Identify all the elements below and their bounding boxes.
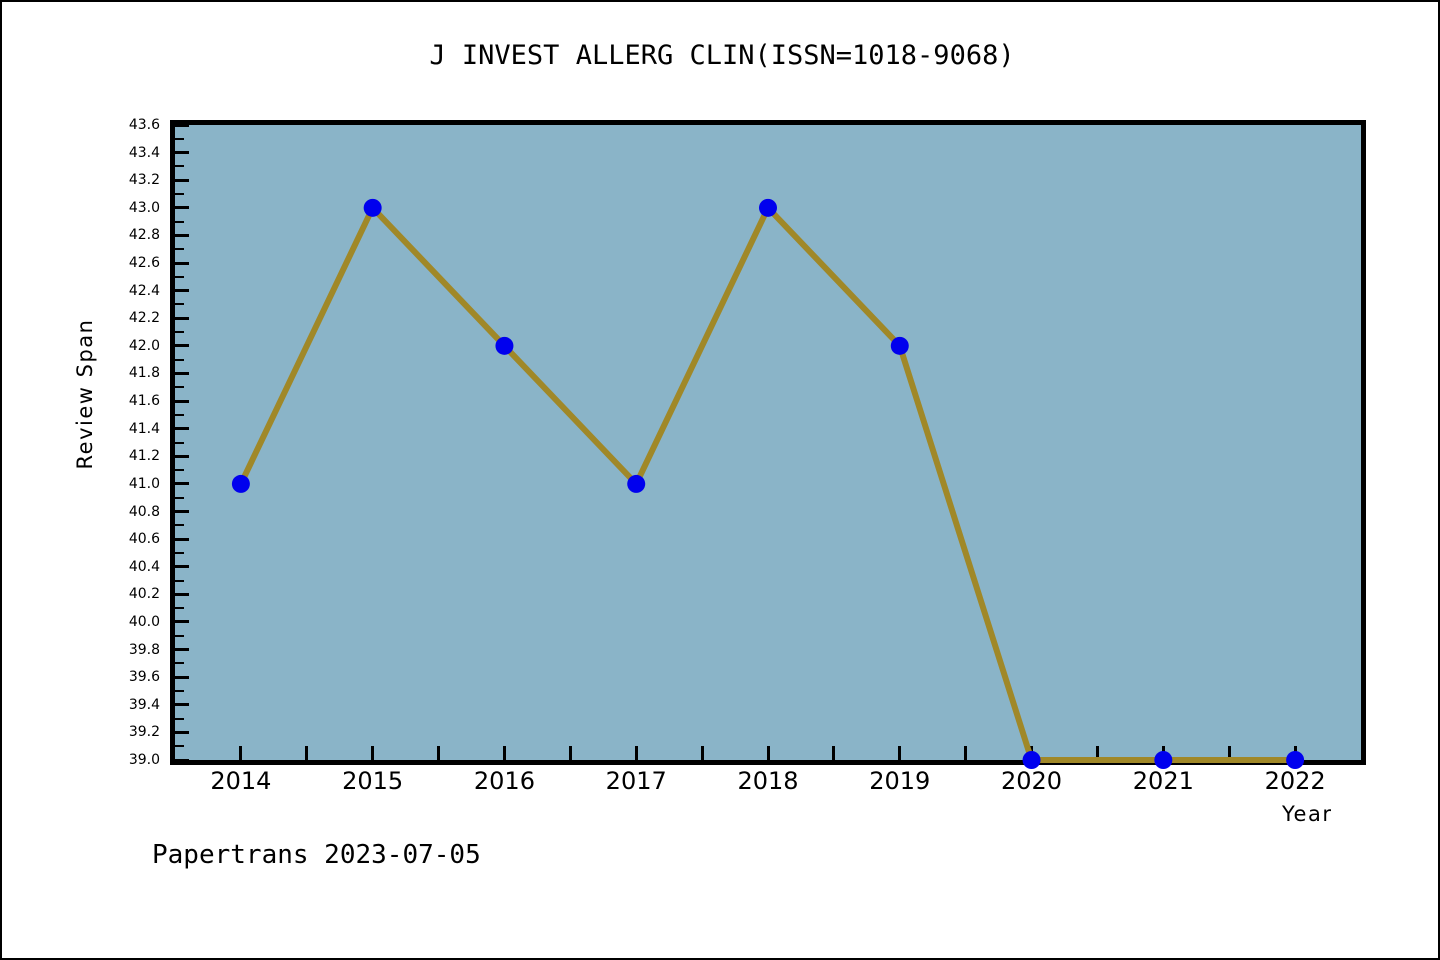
- y-axis-tick-label: 40.2: [129, 587, 160, 601]
- y-axis-tick-label: 43.6: [129, 118, 160, 132]
- y-axis-tick-label: 39.6: [129, 670, 160, 684]
- y-axis-tick-label: 42.0: [129, 339, 160, 353]
- x-axis-tick-label: 2018: [708, 767, 828, 795]
- data-point-marker[interactable]: [759, 199, 777, 217]
- y-axis-tick-label: 42.6: [129, 256, 160, 270]
- y-axis-tick-label: 40.4: [129, 560, 160, 574]
- y-axis-tick-label: 41.4: [129, 422, 160, 436]
- x-axis-tick-label: 2022: [1235, 767, 1355, 795]
- y-axis-tick-label: 40.6: [129, 532, 160, 546]
- y-axis-tick-label: 39.2: [129, 725, 160, 739]
- y-axis-tick-label: 39.8: [129, 643, 160, 657]
- x-axis-tick-label: 2020: [972, 767, 1092, 795]
- chart-page: J INVEST ALLERG CLIN(ISSN=1018-9068) Rev…: [0, 0, 1440, 960]
- y-axis-tick-label: 43.0: [129, 201, 160, 215]
- y-axis-tick-label: 43.4: [129, 146, 160, 160]
- y-axis-tick-label: 41.8: [129, 366, 160, 380]
- x-axis-tick-label: 2021: [1103, 767, 1223, 795]
- y-axis-tick-label: 39.0: [129, 753, 160, 767]
- x-axis-tick-label: 2014: [181, 767, 301, 795]
- data-point-marker[interactable]: [891, 337, 909, 355]
- x-axis-tick-label: 2017: [576, 767, 696, 795]
- x-axis-tick-label: 2019: [840, 767, 960, 795]
- data-point-marker[interactable]: [1154, 751, 1172, 769]
- data-point-marker[interactable]: [232, 475, 250, 493]
- line-series: [175, 125, 1361, 760]
- y-axis-tick-label: 41.0: [129, 477, 160, 491]
- y-axis-tick-label: 41.2: [129, 449, 160, 463]
- y-axis-tick-label: 43.2: [129, 173, 160, 187]
- plot-area: [170, 120, 1366, 765]
- data-point-marker[interactable]: [1023, 751, 1041, 769]
- y-axis-tick-label: 42.2: [129, 311, 160, 325]
- x-axis-label: Year: [1282, 802, 1332, 826]
- page-title: J INVEST ALLERG CLIN(ISSN=1018-9068): [2, 40, 1440, 71]
- x-axis-tick-label: 2015: [313, 767, 433, 795]
- data-point-marker[interactable]: [1286, 751, 1304, 769]
- footer-note: Papertrans 2023-07-05: [152, 840, 481, 870]
- y-axis-tick-label: 42.8: [129, 228, 160, 242]
- y-axis-tick-label: 39.4: [129, 698, 160, 712]
- y-axis-tick-label: 42.4: [129, 284, 160, 298]
- y-axis-tick-label: 41.6: [129, 394, 160, 408]
- series-line: [241, 208, 1295, 760]
- y-axis-tick-label: 40.0: [129, 615, 160, 629]
- data-point-marker[interactable]: [364, 199, 382, 217]
- data-point-marker[interactable]: [495, 337, 513, 355]
- y-axis-label: Review Span: [73, 294, 97, 494]
- x-axis-tick-label: 2016: [444, 767, 564, 795]
- y-axis-tick-label: 40.8: [129, 505, 160, 519]
- plot-inner: [175, 125, 1361, 760]
- data-point-marker[interactable]: [627, 475, 645, 493]
